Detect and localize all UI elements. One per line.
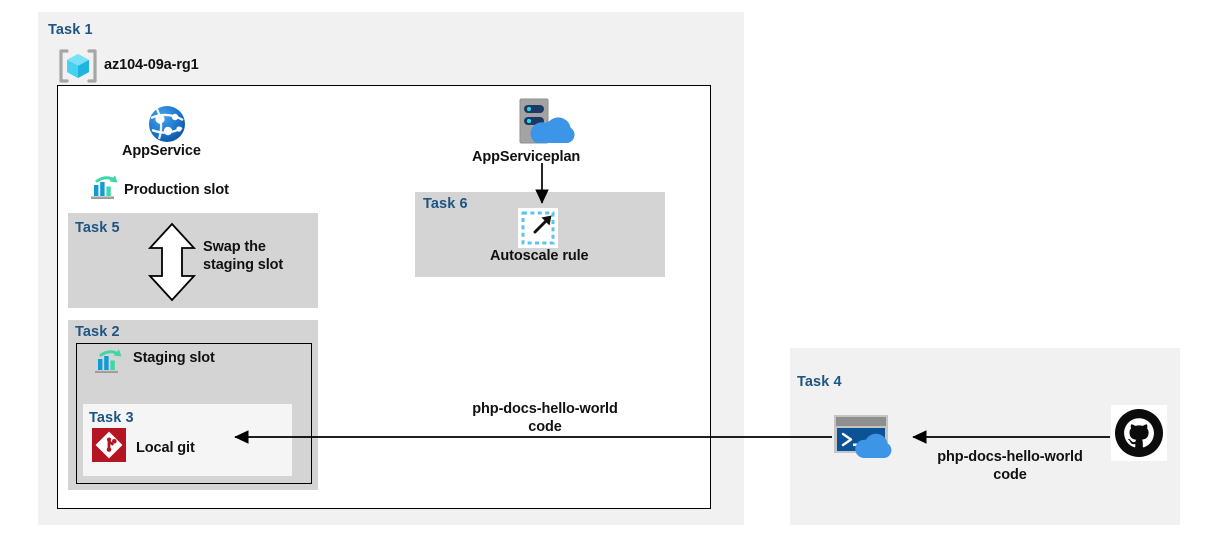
resource-group-cube-icon	[58, 48, 98, 84]
cloud-shell-icon	[832, 412, 902, 462]
diagram-canvas: Task 1 az104-09a-rg1	[0, 0, 1218, 545]
cloudshell-to-localgit-edge-label: php-docs-hello-worldcode	[440, 400, 650, 436]
task5-label: Task 5	[75, 220, 120, 236]
app-service-plan-label: AppServiceplan	[472, 149, 580, 165]
edge-label-line1: php-docs-hello-world	[472, 401, 617, 417]
git-icon	[92, 428, 126, 462]
deployment-slot-icon	[92, 348, 124, 376]
autoscale-rule-label: Autoscale rule	[490, 248, 589, 264]
task4-label: Task 4	[797, 374, 842, 390]
gh-edge-label-line1: php-docs-hello-world	[937, 449, 1082, 465]
task3-label: Task 3	[89, 410, 134, 426]
double-arrow-vertical-icon	[146, 222, 198, 302]
edge-label-line2: code	[528, 419, 561, 435]
gh-edge-label-line2: code	[993, 467, 1026, 483]
swap-label-line1: Swap the	[203, 239, 266, 255]
autoscale-rule-icon	[518, 208, 558, 248]
swap-label-line2: staging slot	[203, 257, 283, 273]
app-service-globe-icon	[147, 104, 187, 144]
swap-label: Swap thestaging slot	[203, 238, 313, 274]
deployment-slot-icon	[88, 174, 120, 202]
task2-label: Task 2	[75, 324, 120, 340]
local-git-label: Local git	[136, 440, 195, 456]
task6-label: Task 6	[423, 196, 468, 212]
resource-group-label: az104-09a-rg1	[104, 57, 199, 73]
app-service-plan-icon	[510, 97, 574, 149]
github-to-cloudshell-edge-label: php-docs-hello-worldcode	[905, 448, 1115, 484]
staging-slot-label: Staging slot	[133, 350, 215, 366]
github-octocat-icon	[1111, 405, 1167, 461]
app-service-label: AppService	[122, 143, 201, 159]
task1-label: Task 1	[48, 22, 93, 38]
production-slot-label: Production slot	[124, 182, 229, 198]
